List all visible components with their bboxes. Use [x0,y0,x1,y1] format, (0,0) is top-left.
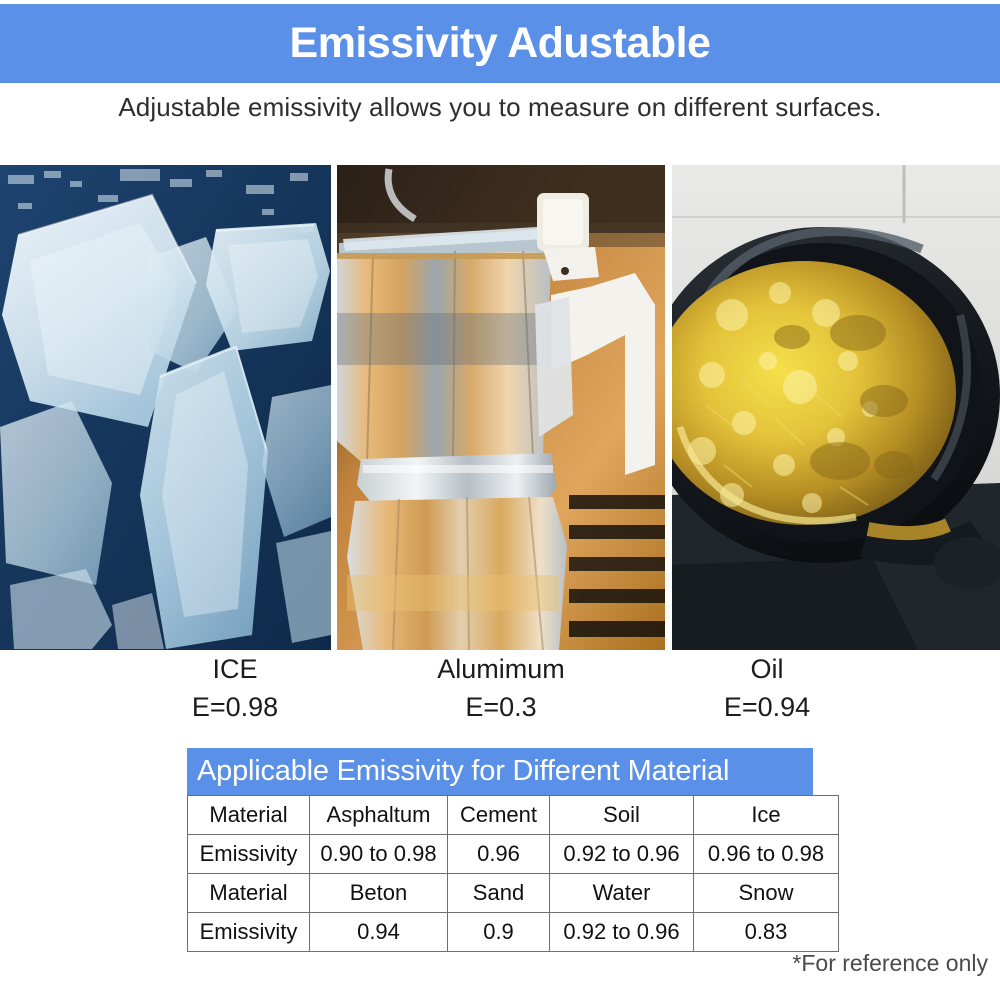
table-cell: Ice [694,796,839,835]
emissivity-table: Material Asphaltum Cement Soil Ice Emiss… [187,795,839,952]
aluminum-photo [337,165,665,650]
caption-oil-emissivity: E=0.94 [672,690,862,724]
table-cell: Snow [694,874,839,913]
caption-oil-name: Oil [672,652,862,686]
caption-aluminum: Alumimum E=0.3 [337,652,665,724]
table-cell: Water [550,874,694,913]
photo-captions: ICE E=0.98 Alumimum E=0.3 Oil E=0.94 [0,652,1000,732]
emissivity-table-container: Applicable Emissivity for Different Mate… [187,748,813,952]
table-row: Material Beton Sand Water Snow [188,874,839,913]
table-cell: 0.92 to 0.96 [550,913,694,952]
ice-blocks-illustration [0,165,331,650]
caption-aluminum-emissivity: E=0.3 [337,690,665,724]
table-cell: Emissivity [188,835,310,874]
header-banner: Emissivity Adustable [0,4,1000,83]
table-cell: Soil [550,796,694,835]
table-cell: 0.83 [694,913,839,952]
moka-pot-illustration [337,165,665,650]
footnote-text: *For reference only [0,950,988,977]
emissivity-table-title: Applicable Emissivity for Different Mate… [187,748,813,795]
table-cell: 0.90 to 0.98 [310,835,448,874]
ice-photo [0,165,331,650]
table-cell: Beton [310,874,448,913]
caption-oil: Oil E=0.94 [672,652,862,724]
oil-photo [672,165,1000,650]
frying-oil-illustration [672,165,1000,650]
table-cell: 0.96 to 0.98 [694,835,839,874]
table-cell: Cement [448,796,550,835]
photo-strip [0,165,1000,650]
table-cell: 0.9 [448,913,550,952]
table-cell: 0.92 to 0.96 [550,835,694,874]
table-cell: Material [188,874,310,913]
table-cell: Sand [448,874,550,913]
table-cell: Material [188,796,310,835]
page-title: Emissivity Adustable [290,22,711,65]
caption-aluminum-name: Alumimum [337,652,665,686]
table-cell: 0.96 [448,835,550,874]
table-cell: 0.94 [310,913,448,952]
table-row: Emissivity 0.94 0.9 0.92 to 0.96 0.83 [188,913,839,952]
table-row: Emissivity 0.90 to 0.98 0.96 0.92 to 0.9… [188,835,839,874]
subtitle-text: Adjustable emissivity allows you to meas… [0,92,1000,123]
table-cell: Emissivity [188,913,310,952]
table-cell: Asphaltum [310,796,448,835]
table-row: Material Asphaltum Cement Soil Ice [188,796,839,835]
